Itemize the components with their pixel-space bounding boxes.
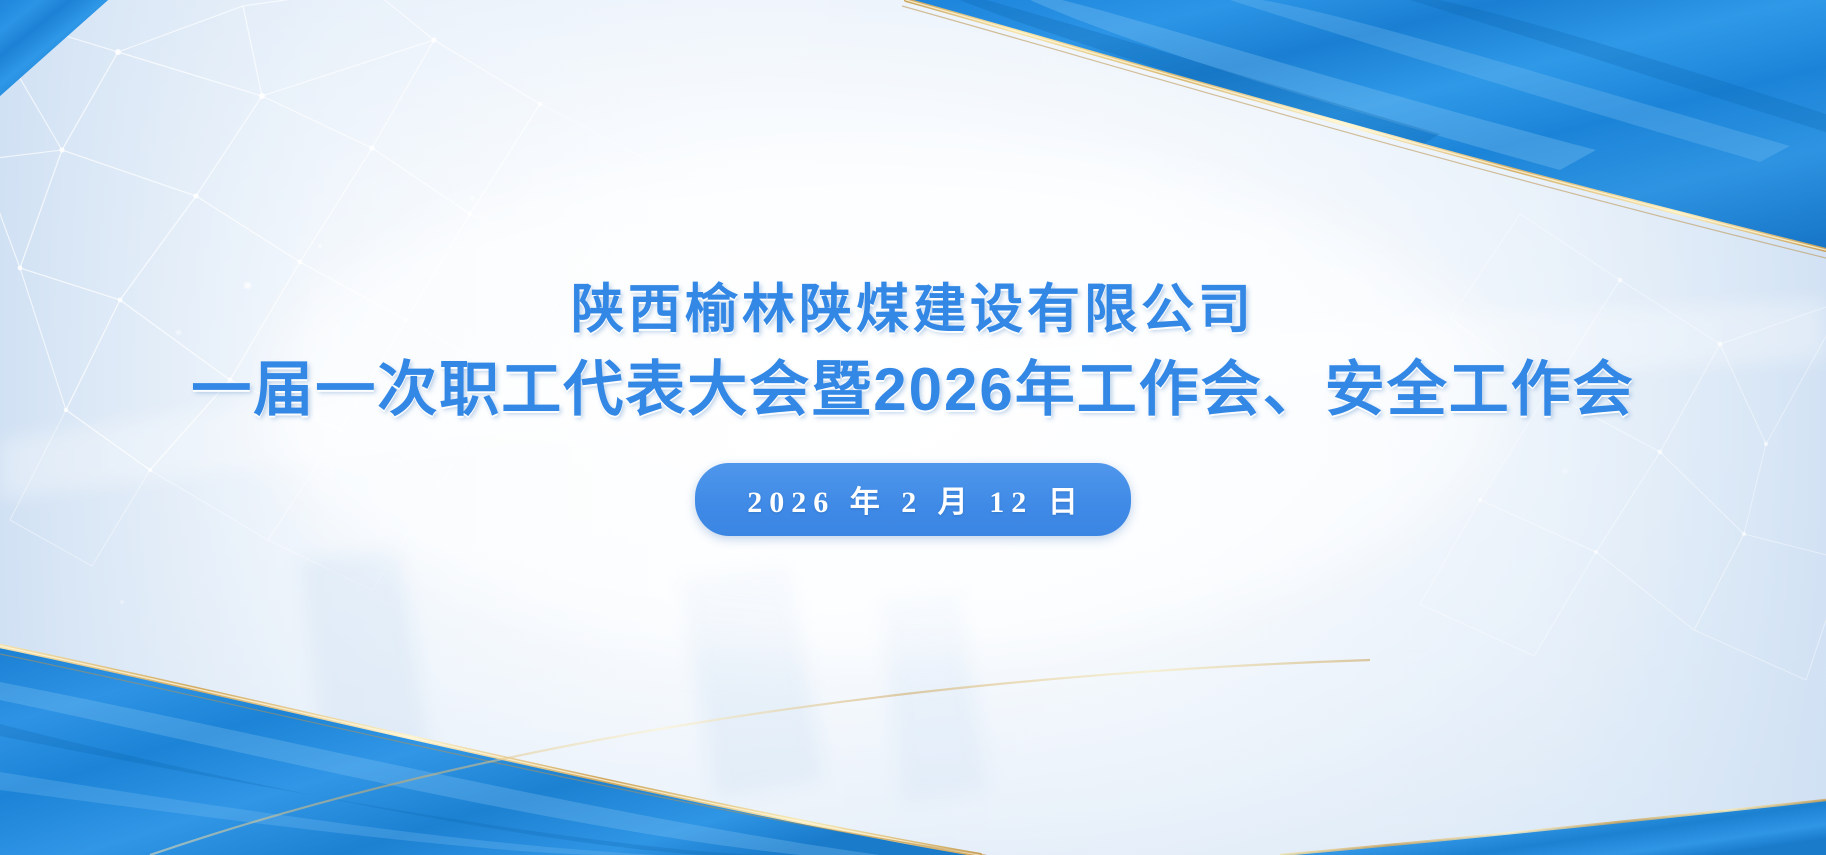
company-title: 陕西榆林陕煤建设有限公司 [571, 282, 1255, 338]
date-badge: 2026 年 2 月 12 日 [695, 463, 1131, 536]
event-title: 一届一次职工代表大会暨2026年工作会、安全工作会 [191, 358, 1634, 421]
poster-canvas: 陕西榆林陕煤建设有限公司 一届一次职工代表大会暨2026年工作会、安全工作会 2… [0, 0, 1826, 855]
background-artwork [0, 0, 1826, 855]
